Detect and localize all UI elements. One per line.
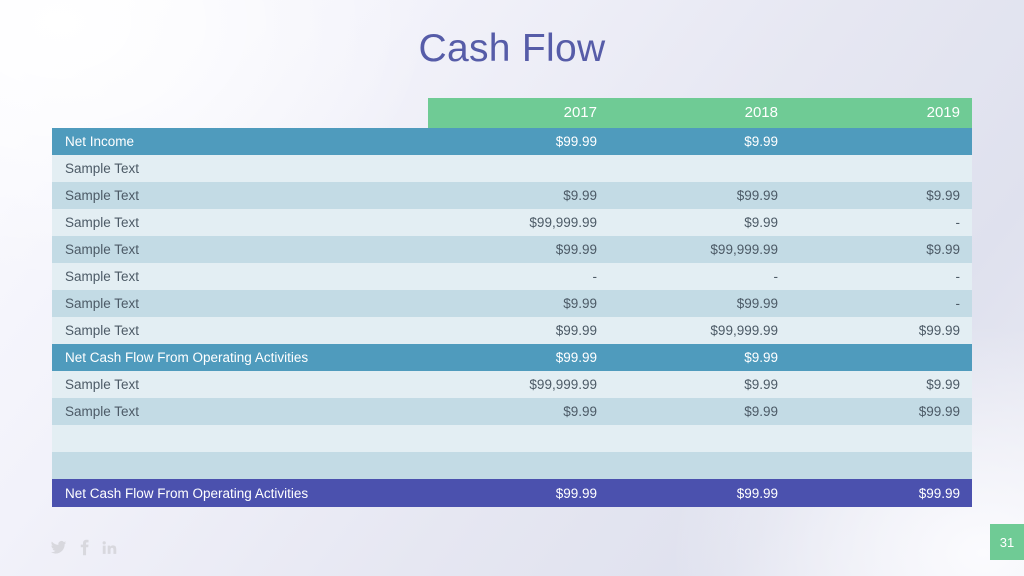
- row-label: Sample Text: [52, 161, 428, 176]
- slide-canvas: Cash Flow 2017 2018 2019 Net Income$99.9…: [0, 0, 1024, 576]
- table-row: Sample Text$9.99$99.99$9.99: [52, 182, 972, 209]
- row-label: Net Cash Flow From Operating Activities: [52, 350, 428, 365]
- row-label: Sample Text: [52, 296, 428, 311]
- row-value-2018: $99,999.99: [609, 242, 790, 257]
- table-row: Sample Text$9.99$9.99$99.99: [52, 398, 972, 425]
- table-row: Sample Text$99,999.99$9.99$9.99: [52, 371, 972, 398]
- row-value-2017: -: [428, 269, 609, 284]
- page-title: Cash Flow: [0, 27, 1024, 72]
- row-value-2018: $9.99: [609, 350, 790, 365]
- table-row: [52, 425, 972, 452]
- table-row: [52, 452, 972, 479]
- header-year-2018: 2018: [609, 98, 790, 128]
- row-label: Net Cash Flow From Operating Activities: [52, 486, 428, 501]
- cash-flow-table: 2017 2018 2019 Net Income$99.99$9.99Samp…: [52, 98, 972, 507]
- row-value-2017: $99.99: [428, 350, 609, 365]
- row-value-2017: $99,999.99: [428, 377, 609, 392]
- row-value-2017: $9.99: [428, 296, 609, 311]
- row-label: Sample Text: [52, 269, 428, 284]
- table-row: Sample Text$99.99$99,999.99$9.99: [52, 236, 972, 263]
- row-value-2019: $99.99: [790, 404, 972, 419]
- row-value-2017: $99.99: [428, 134, 609, 149]
- row-value-2017: $99.99: [428, 486, 609, 501]
- row-value-2017: $99,999.99: [428, 215, 609, 230]
- row-value-2018: $99.99: [609, 296, 790, 311]
- row-value-2019: $99.99: [790, 323, 972, 338]
- row-value-2018: $99.99: [609, 188, 790, 203]
- social-links: [49, 539, 118, 556]
- row-value-2018: $9.99: [609, 404, 790, 419]
- row-value-2018: $9.99: [609, 215, 790, 230]
- page-number-badge: 31: [990, 524, 1024, 560]
- row-label: Sample Text: [52, 215, 428, 230]
- row-value-2018: $99,999.99: [609, 323, 790, 338]
- row-value-2019: -: [790, 215, 972, 230]
- table-row: Sample Text$99.99$99,999.99$99.99: [52, 317, 972, 344]
- row-value-2019: -: [790, 296, 972, 311]
- row-value-2019: $99.99: [790, 486, 972, 501]
- table-row: Net Cash Flow From Operating Activities$…: [52, 344, 972, 371]
- row-label: Net Income: [52, 134, 428, 149]
- row-value-2017: $9.99: [428, 404, 609, 419]
- table-body: Net Income$99.99$9.99Sample TextSample T…: [52, 128, 972, 507]
- table-row: Sample Text: [52, 155, 972, 182]
- row-label: Sample Text: [52, 188, 428, 203]
- table-header-row: 2017 2018 2019: [52, 98, 972, 128]
- linkedin-icon[interactable]: [101, 539, 118, 556]
- row-label: Sample Text: [52, 242, 428, 257]
- table-row: Sample Text$9.99$99.99-: [52, 290, 972, 317]
- table-row: Net Cash Flow From Operating Activities$…: [52, 479, 972, 507]
- row-value-2019: $9.99: [790, 377, 972, 392]
- row-value-2018: $9.99: [609, 134, 790, 149]
- facebook-icon[interactable]: [79, 539, 90, 556]
- row-value-2017: $9.99: [428, 188, 609, 203]
- header-year-2019: 2019: [790, 98, 972, 128]
- row-label: Sample Text: [52, 323, 428, 338]
- row-label: Sample Text: [52, 377, 428, 392]
- table-row: Sample Text---: [52, 263, 972, 290]
- row-value-2019: $9.99: [790, 188, 972, 203]
- row-value-2019: -: [790, 269, 972, 284]
- table-row: Net Income$99.99$9.99: [52, 128, 972, 155]
- row-value-2019: $9.99: [790, 242, 972, 257]
- header-year-2017: 2017: [428, 98, 609, 128]
- twitter-icon[interactable]: [49, 539, 68, 556]
- row-value-2018: $99.99: [609, 486, 790, 501]
- table-row: Sample Text$99,999.99$9.99-: [52, 209, 972, 236]
- row-value-2017: $99.99: [428, 323, 609, 338]
- row-value-2018: $9.99: [609, 377, 790, 392]
- row-value-2017: $99.99: [428, 242, 609, 257]
- row-label: Sample Text: [52, 404, 428, 419]
- row-value-2018: -: [609, 269, 790, 284]
